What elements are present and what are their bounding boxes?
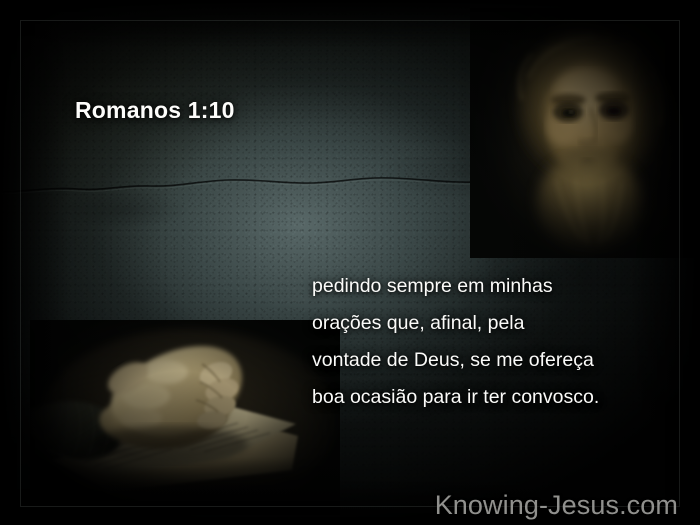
verse-line-1: pedindo sempre em minhas	[312, 268, 682, 305]
scripture-reference: Romanos 1:10	[75, 97, 235, 124]
verse-line-2: orações que, afinal, pela	[312, 305, 682, 342]
site-watermark: Knowing-Jesus.com	[435, 490, 678, 521]
verse-text: pedindo sempre em minhas orações que, af…	[312, 268, 682, 416]
verse-image-canvas: Romanos 1:10 pedindo sempre em minhas or…	[0, 0, 700, 525]
portrait-artwork	[470, 8, 700, 258]
verse-line-4: boa ocasião para ir ter convosco.	[312, 379, 682, 416]
hands-bible-artwork	[30, 320, 340, 515]
praying-hands-on-bible	[30, 320, 340, 515]
verse-line-3: vontade de Deus, se me ofereça	[312, 342, 682, 379]
bearded-man-portrait	[470, 8, 700, 258]
